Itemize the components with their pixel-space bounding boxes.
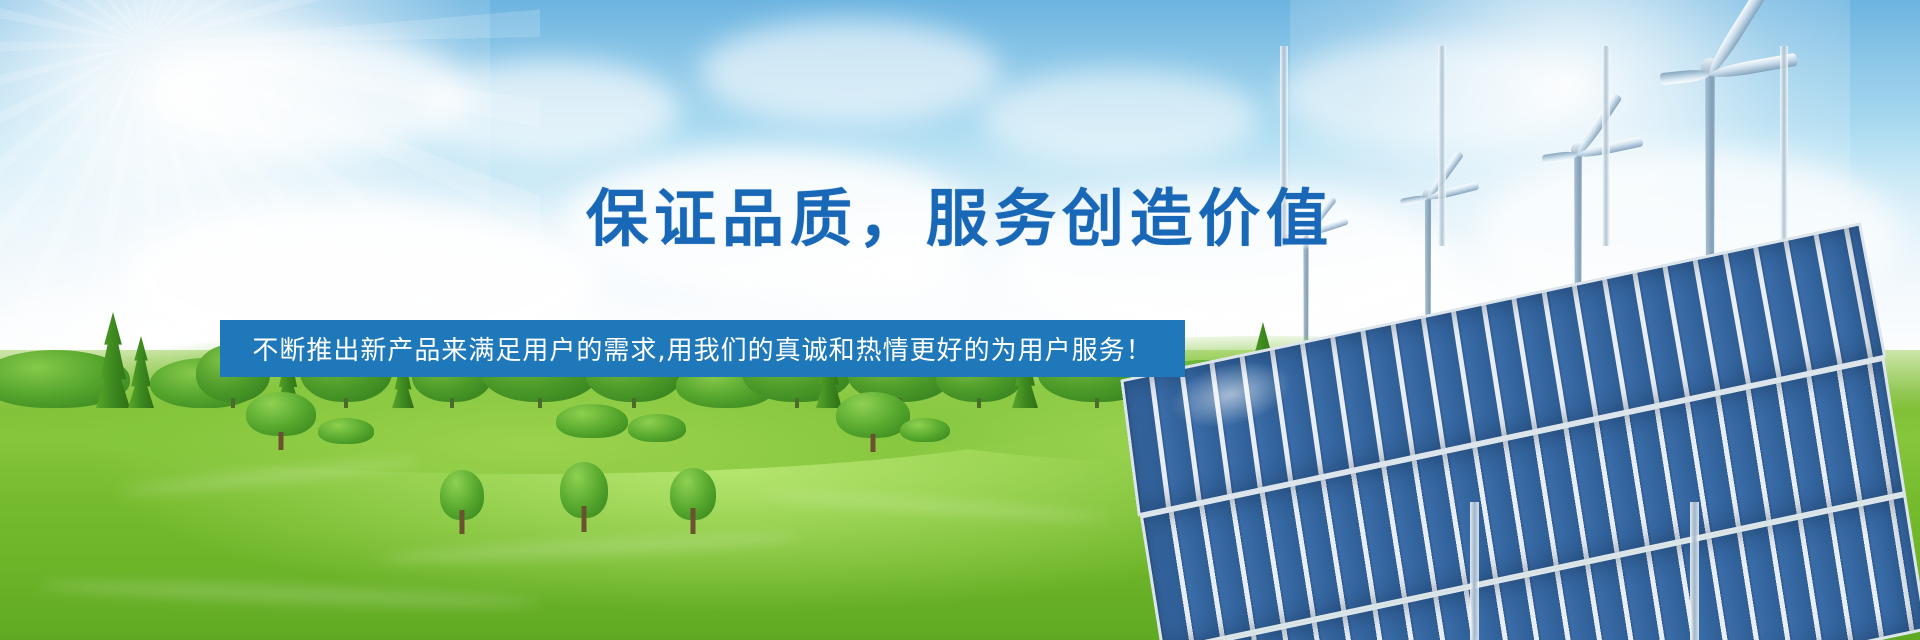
conifer-tree: [96, 312, 130, 408]
page-title: 保证品质，服务创造价值: [0, 168, 1920, 258]
lawn-tree: [246, 392, 316, 450]
grass-highlight: [380, 529, 800, 567]
hero-banner: 保证品质，服务创造价值 不断推出新产品来满足用户的需求,用我们的真诚和热情更好的…: [0, 0, 1920, 640]
panel-leg: [1690, 502, 1699, 640]
bush: [628, 414, 686, 442]
conifer-tree: [128, 336, 154, 408]
grass-highlight: [760, 488, 1110, 524]
bush: [900, 418, 950, 442]
turbine-blade: [1660, 68, 1711, 85]
panel-array-tilt: [1118, 221, 1920, 640]
lawn-tree: [666, 458, 720, 534]
subtitle-text: 不断推出新产品来满足用户的需求,用我们的真诚和热情更好的为用户服务！: [252, 330, 1152, 367]
cloud: [700, 20, 1000, 125]
grass-highlight: [40, 576, 540, 611]
subtitle-banner-bar: 不断推出新产品来满足用户的需求,用我们的真诚和热情更好的为用户服务！: [220, 320, 1185, 377]
solar-panel-array: [1170, 216, 1920, 640]
turbine-blade: [1542, 150, 1579, 164]
panel-leg: [1470, 502, 1479, 640]
lawn-tree: [436, 462, 488, 534]
panel-glare: [1168, 353, 1293, 437]
lawn-tree: [556, 452, 612, 532]
bush: [556, 404, 628, 438]
lawn-tree: [836, 394, 910, 452]
bush: [318, 418, 374, 444]
